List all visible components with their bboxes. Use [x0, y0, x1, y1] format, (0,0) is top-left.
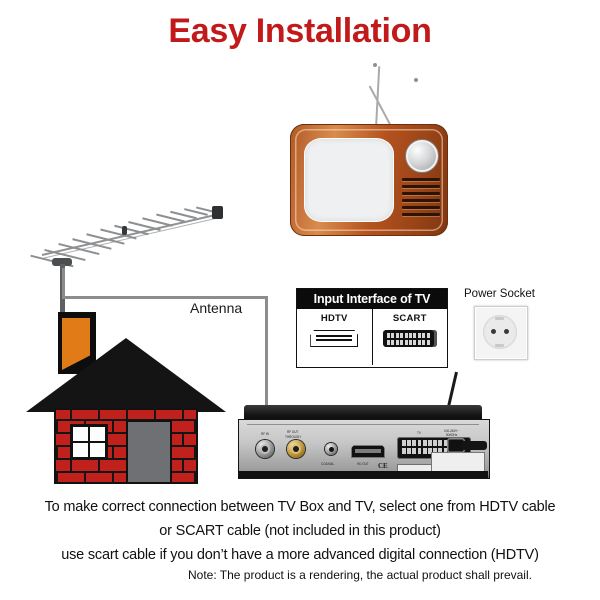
- house-roof: [26, 338, 226, 412]
- antenna-boom-lower: [42, 218, 216, 259]
- set-top-box-illustration: RF IN RF OUT THROUGH COAXIAL HD OUT TV 1…: [238, 405, 488, 485]
- tv-antenna-tip-right: [414, 78, 418, 82]
- socket-earth-clip-top: [495, 317, 504, 320]
- power-socket: [474, 306, 528, 360]
- socket-earth-clip-bottom: [495, 344, 504, 347]
- house-door: [126, 420, 172, 484]
- socket-hole-left: [491, 329, 496, 334]
- box-bottom-edge: [238, 471, 488, 478]
- coaxial-audio-jack: [325, 443, 337, 455]
- hdmi-connector-icon: [310, 330, 358, 347]
- hdmi-out-text: HD OUT: [357, 462, 369, 466]
- rf-in-connector: [256, 440, 274, 458]
- tv-dial-knob: [406, 140, 438, 172]
- rf-in-text: RF IN: [261, 432, 269, 436]
- antenna-clamp: [122, 226, 127, 235]
- tv-body: [290, 124, 448, 236]
- rf-through-text: THROUGH: [285, 435, 300, 439]
- page-title: Easy Installation: [0, 12, 600, 51]
- panel-cell-scart: SCART: [372, 309, 448, 365]
- installation-diagram: Easy Installation: [0, 0, 600, 600]
- television-illustration: [272, 58, 462, 238]
- antenna-label: Antenna: [190, 300, 242, 316]
- house-window: [70, 424, 108, 460]
- antenna-cable-riser: [62, 268, 65, 298]
- tv-screen: [304, 138, 394, 222]
- box-vent-line: [247, 424, 479, 425]
- instruction-line-2: or SCART cable (not included in this pro…: [0, 519, 600, 543]
- tv-antenna-tip-left: [373, 63, 377, 67]
- note-text: Note: The product is a rendering, the ac…: [68, 568, 532, 582]
- scart-connector-icon: [383, 330, 437, 347]
- box-power-plug: [461, 441, 487, 450]
- panel-cell-hdtv: HDTV: [297, 309, 372, 365]
- panel-header: Input Interface of TV: [297, 289, 447, 309]
- antenna-end-cap: [212, 206, 223, 219]
- box-hdmi-port: [351, 445, 385, 458]
- ce-mark: CE: [378, 462, 388, 470]
- coaxial-text: COAXIAL: [321, 462, 334, 466]
- rf-out-text: RF OUT: [287, 430, 298, 434]
- house-illustration: [26, 312, 226, 484]
- socket-hole-right: [504, 329, 509, 334]
- note-row: Note: The product is a rendering, the ac…: [0, 566, 600, 584]
- panel-body: HDTV SCART: [297, 309, 447, 365]
- hdtv-label: HDTV: [321, 313, 348, 324]
- instruction-line-1: To make correct connection between TV Bo…: [0, 495, 600, 519]
- scart-label: SCART: [393, 313, 427, 324]
- instruction-text: To make correct connection between TV Bo…: [0, 495, 600, 567]
- specification-label: [431, 452, 485, 473]
- box-rear-panel: RF IN RF OUT THROUGH COAXIAL HD OUT TV 1…: [238, 419, 490, 479]
- rf-out-connector: [287, 440, 305, 458]
- power-socket-label: Power Socket: [464, 288, 535, 300]
- antenna-boom: [42, 214, 218, 256]
- instruction-line-3: use scart cable if you don’t have a more…: [0, 543, 600, 567]
- scart-tv-text: TV: [417, 431, 421, 435]
- antenna-cable-horizontal: [62, 296, 268, 299]
- input-interface-panel: Input Interface of TV HDTV SCART: [296, 288, 448, 368]
- socket-recess: [483, 315, 517, 349]
- tv-speaker-grille: [402, 178, 440, 222]
